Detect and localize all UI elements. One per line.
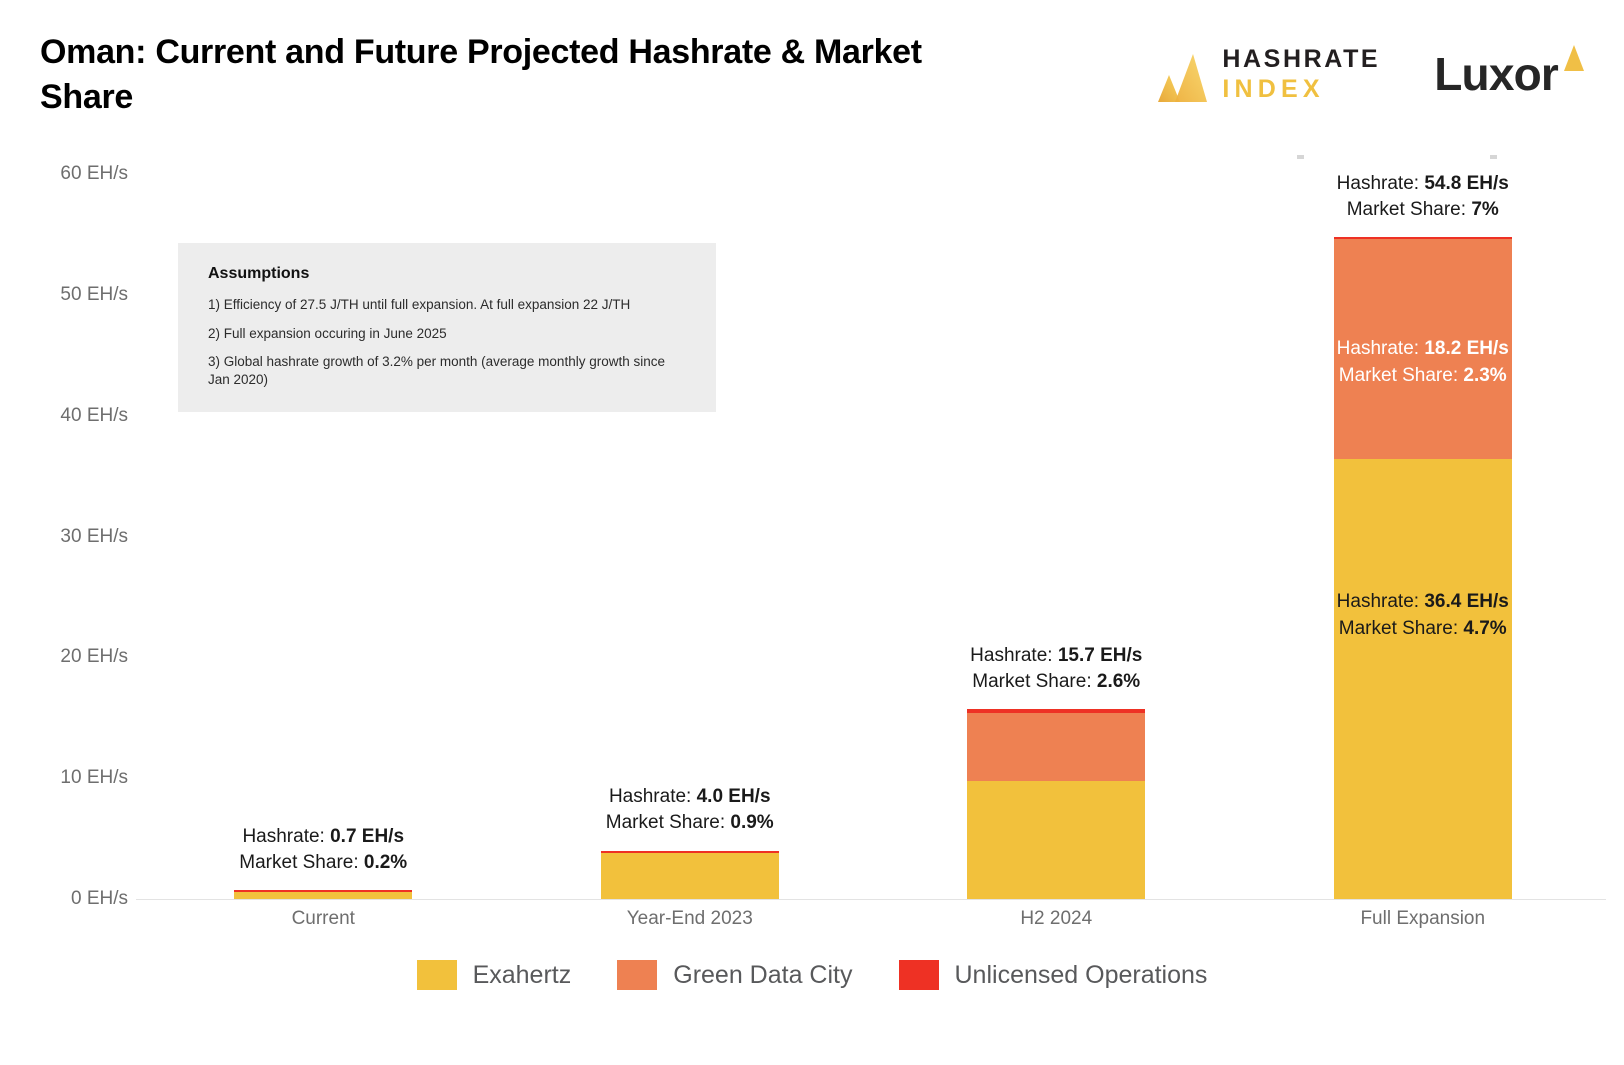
chart-legend: ExahertzGreen Data CityUnlicensed Operat… bbox=[0, 960, 1624, 990]
hashrate-prefix: Hashrate: bbox=[609, 786, 697, 807]
market-share-value: 0.9% bbox=[730, 812, 773, 833]
bar-total-label: Hashrate: 15.7 EH/sMarket Share: 2.6% bbox=[970, 643, 1142, 695]
market-share-prefix: Market Share: bbox=[972, 671, 1097, 692]
legend-label: Unlicensed Operations bbox=[955, 961, 1208, 990]
hashrate-value: 15.7 EH/s bbox=[1058, 645, 1143, 666]
market-share-line: Market Share: 4.7% bbox=[1337, 616, 1509, 642]
bar-total-label: Hashrate: 4.0 EH/sMarket Share: 0.9% bbox=[606, 784, 774, 836]
mountain-icon bbox=[1145, 46, 1207, 102]
page-title: Oman: Current and Future Projected Hashr… bbox=[40, 30, 1000, 120]
chart-plot-area: 0 EH/s10 EH/s20 EH/s30 EH/s40 EH/s50 EH/… bbox=[0, 150, 1624, 910]
legend-item[interactable]: Unlicensed Operations bbox=[899, 960, 1208, 990]
bar-segment-label-exahertz: Hashrate: 36.4 EH/sMarket Share: 4.7% bbox=[1337, 589, 1509, 641]
assumption-item: 1) Efficiency of 27.5 J/TH until full ex… bbox=[208, 296, 688, 314]
hashrate-index-wordmark: HASHRATE INDEX bbox=[1222, 47, 1380, 102]
bar-total-label: Hashrate: 0.7 EH/sMarket Share: 0.2% bbox=[239, 824, 407, 876]
market-share-prefix: Market Share: bbox=[1347, 199, 1472, 220]
bar-segment-exahertz[interactable] bbox=[601, 853, 779, 899]
luxor-wordmark: Luxor bbox=[1434, 51, 1558, 97]
legend-item[interactable]: Exahertz bbox=[417, 960, 572, 990]
hashrate-line: Hashrate: 0.7 EH/s bbox=[239, 824, 407, 850]
hashrate-line: Hashrate: 36.4 EH/s bbox=[1337, 589, 1509, 615]
bar-stack[interactable] bbox=[967, 709, 1145, 899]
bar-segment-exahertz[interactable] bbox=[1334, 459, 1512, 899]
assumptions-heading: Assumptions bbox=[208, 265, 688, 283]
index-word: INDEX bbox=[1222, 77, 1380, 102]
bar-column[interactable]: Hashrate: 54.8 EH/sMarket Share: 7%Full … bbox=[1240, 150, 1607, 899]
x-axis-category-label: H2 2024 bbox=[1020, 908, 1092, 930]
hashrate-word: HASHRATE bbox=[1222, 47, 1380, 72]
bar-total-label: Hashrate: 54.8 EH/sMarket Share: 7% bbox=[1337, 171, 1509, 223]
legend-swatch bbox=[417, 960, 457, 990]
assumption-item: 2) Full expansion occuring in June 2025 bbox=[208, 325, 688, 343]
x-axis-category-label: Full Expansion bbox=[1360, 908, 1485, 930]
bar-stack[interactable] bbox=[601, 851, 779, 899]
market-share-line: Market Share: 0.2% bbox=[239, 850, 407, 876]
hashrate-line: Hashrate: 15.7 EH/s bbox=[970, 643, 1142, 669]
market-share-value: 7% bbox=[1471, 199, 1498, 220]
assumptions-box: Assumptions 1) Efficiency of 27.5 J/TH u… bbox=[178, 243, 716, 412]
market-share-value: 0.2% bbox=[364, 852, 407, 873]
hashrate-value: 0.7 EH/s bbox=[330, 826, 404, 847]
y-axis-tick-label: 10 EH/s bbox=[60, 767, 128, 789]
chart-header: Oman: Current and Future Projected Hashr… bbox=[0, 0, 1624, 150]
legend-swatch bbox=[899, 960, 939, 990]
hashrate-line: Hashrate: 18.2 EH/s bbox=[1337, 336, 1509, 362]
bar-segment-exahertz[interactable] bbox=[234, 892, 412, 899]
market-share-line: Market Share: 2.6% bbox=[970, 669, 1142, 695]
hashrate-line: Hashrate: 54.8 EH/s bbox=[1337, 171, 1509, 197]
legend-item[interactable]: Green Data City bbox=[617, 960, 852, 990]
bar-segment-label-green-data-city: Hashrate: 18.2 EH/sMarket Share: 2.3% bbox=[1337, 336, 1509, 388]
hashrate-value: 54.8 EH/s bbox=[1424, 173, 1509, 194]
market-share-line: Market Share: 0.9% bbox=[606, 810, 774, 836]
hashrate-prefix: Hashrate: bbox=[970, 645, 1058, 666]
y-axis: 0 EH/s10 EH/s20 EH/s30 EH/s40 EH/s50 EH/… bbox=[0, 150, 140, 910]
legend-swatch bbox=[617, 960, 657, 990]
legend-label: Exahertz bbox=[473, 961, 572, 990]
y-axis-tick-label: 30 EH/s bbox=[60, 526, 128, 548]
y-axis-tick-label: 60 EH/s bbox=[60, 163, 128, 185]
bar-stack[interactable] bbox=[234, 890, 412, 899]
triangle-icon bbox=[1562, 45, 1586, 71]
luxor-logo: Luxor bbox=[1434, 51, 1586, 97]
logo-group: HASHRATE INDEX Luxor bbox=[1145, 46, 1586, 102]
x-axis-category-label: Year-End 2023 bbox=[627, 908, 753, 930]
hashrate-value: 4.0 EH/s bbox=[697, 786, 771, 807]
market-share-prefix: Market Share: bbox=[606, 812, 731, 833]
hashrate-line: Hashrate: 4.0 EH/s bbox=[606, 784, 774, 810]
y-axis-tick-label: 50 EH/s bbox=[60, 284, 128, 306]
market-share-line: Market Share: 7% bbox=[1337, 197, 1509, 223]
bar-segment-exahertz[interactable] bbox=[967, 781, 1145, 899]
market-share-value: 2.6% bbox=[1097, 671, 1140, 692]
market-share-line: Market Share: 2.3% bbox=[1337, 363, 1509, 389]
y-axis-tick-label: 40 EH/s bbox=[60, 405, 128, 427]
x-axis-category-label: Current bbox=[292, 908, 355, 930]
hashrate-prefix: Hashrate: bbox=[1337, 173, 1425, 194]
legend-label: Green Data City bbox=[673, 961, 852, 990]
hashrate-index-logo: HASHRATE INDEX bbox=[1145, 46, 1380, 102]
bar-segment-green-data-city[interactable] bbox=[967, 713, 1145, 781]
y-axis-tick-label: 0 EH/s bbox=[71, 888, 128, 910]
y-axis-tick-label: 20 EH/s bbox=[60, 646, 128, 668]
market-share-prefix: Market Share: bbox=[239, 852, 364, 873]
hashrate-prefix: Hashrate: bbox=[242, 826, 330, 847]
bar-column[interactable]: Hashrate: 15.7 EH/sMarket Share: 2.6%H2 … bbox=[873, 150, 1240, 899]
assumption-item: 3) Global hashrate growth of 3.2% per mo… bbox=[208, 353, 688, 388]
